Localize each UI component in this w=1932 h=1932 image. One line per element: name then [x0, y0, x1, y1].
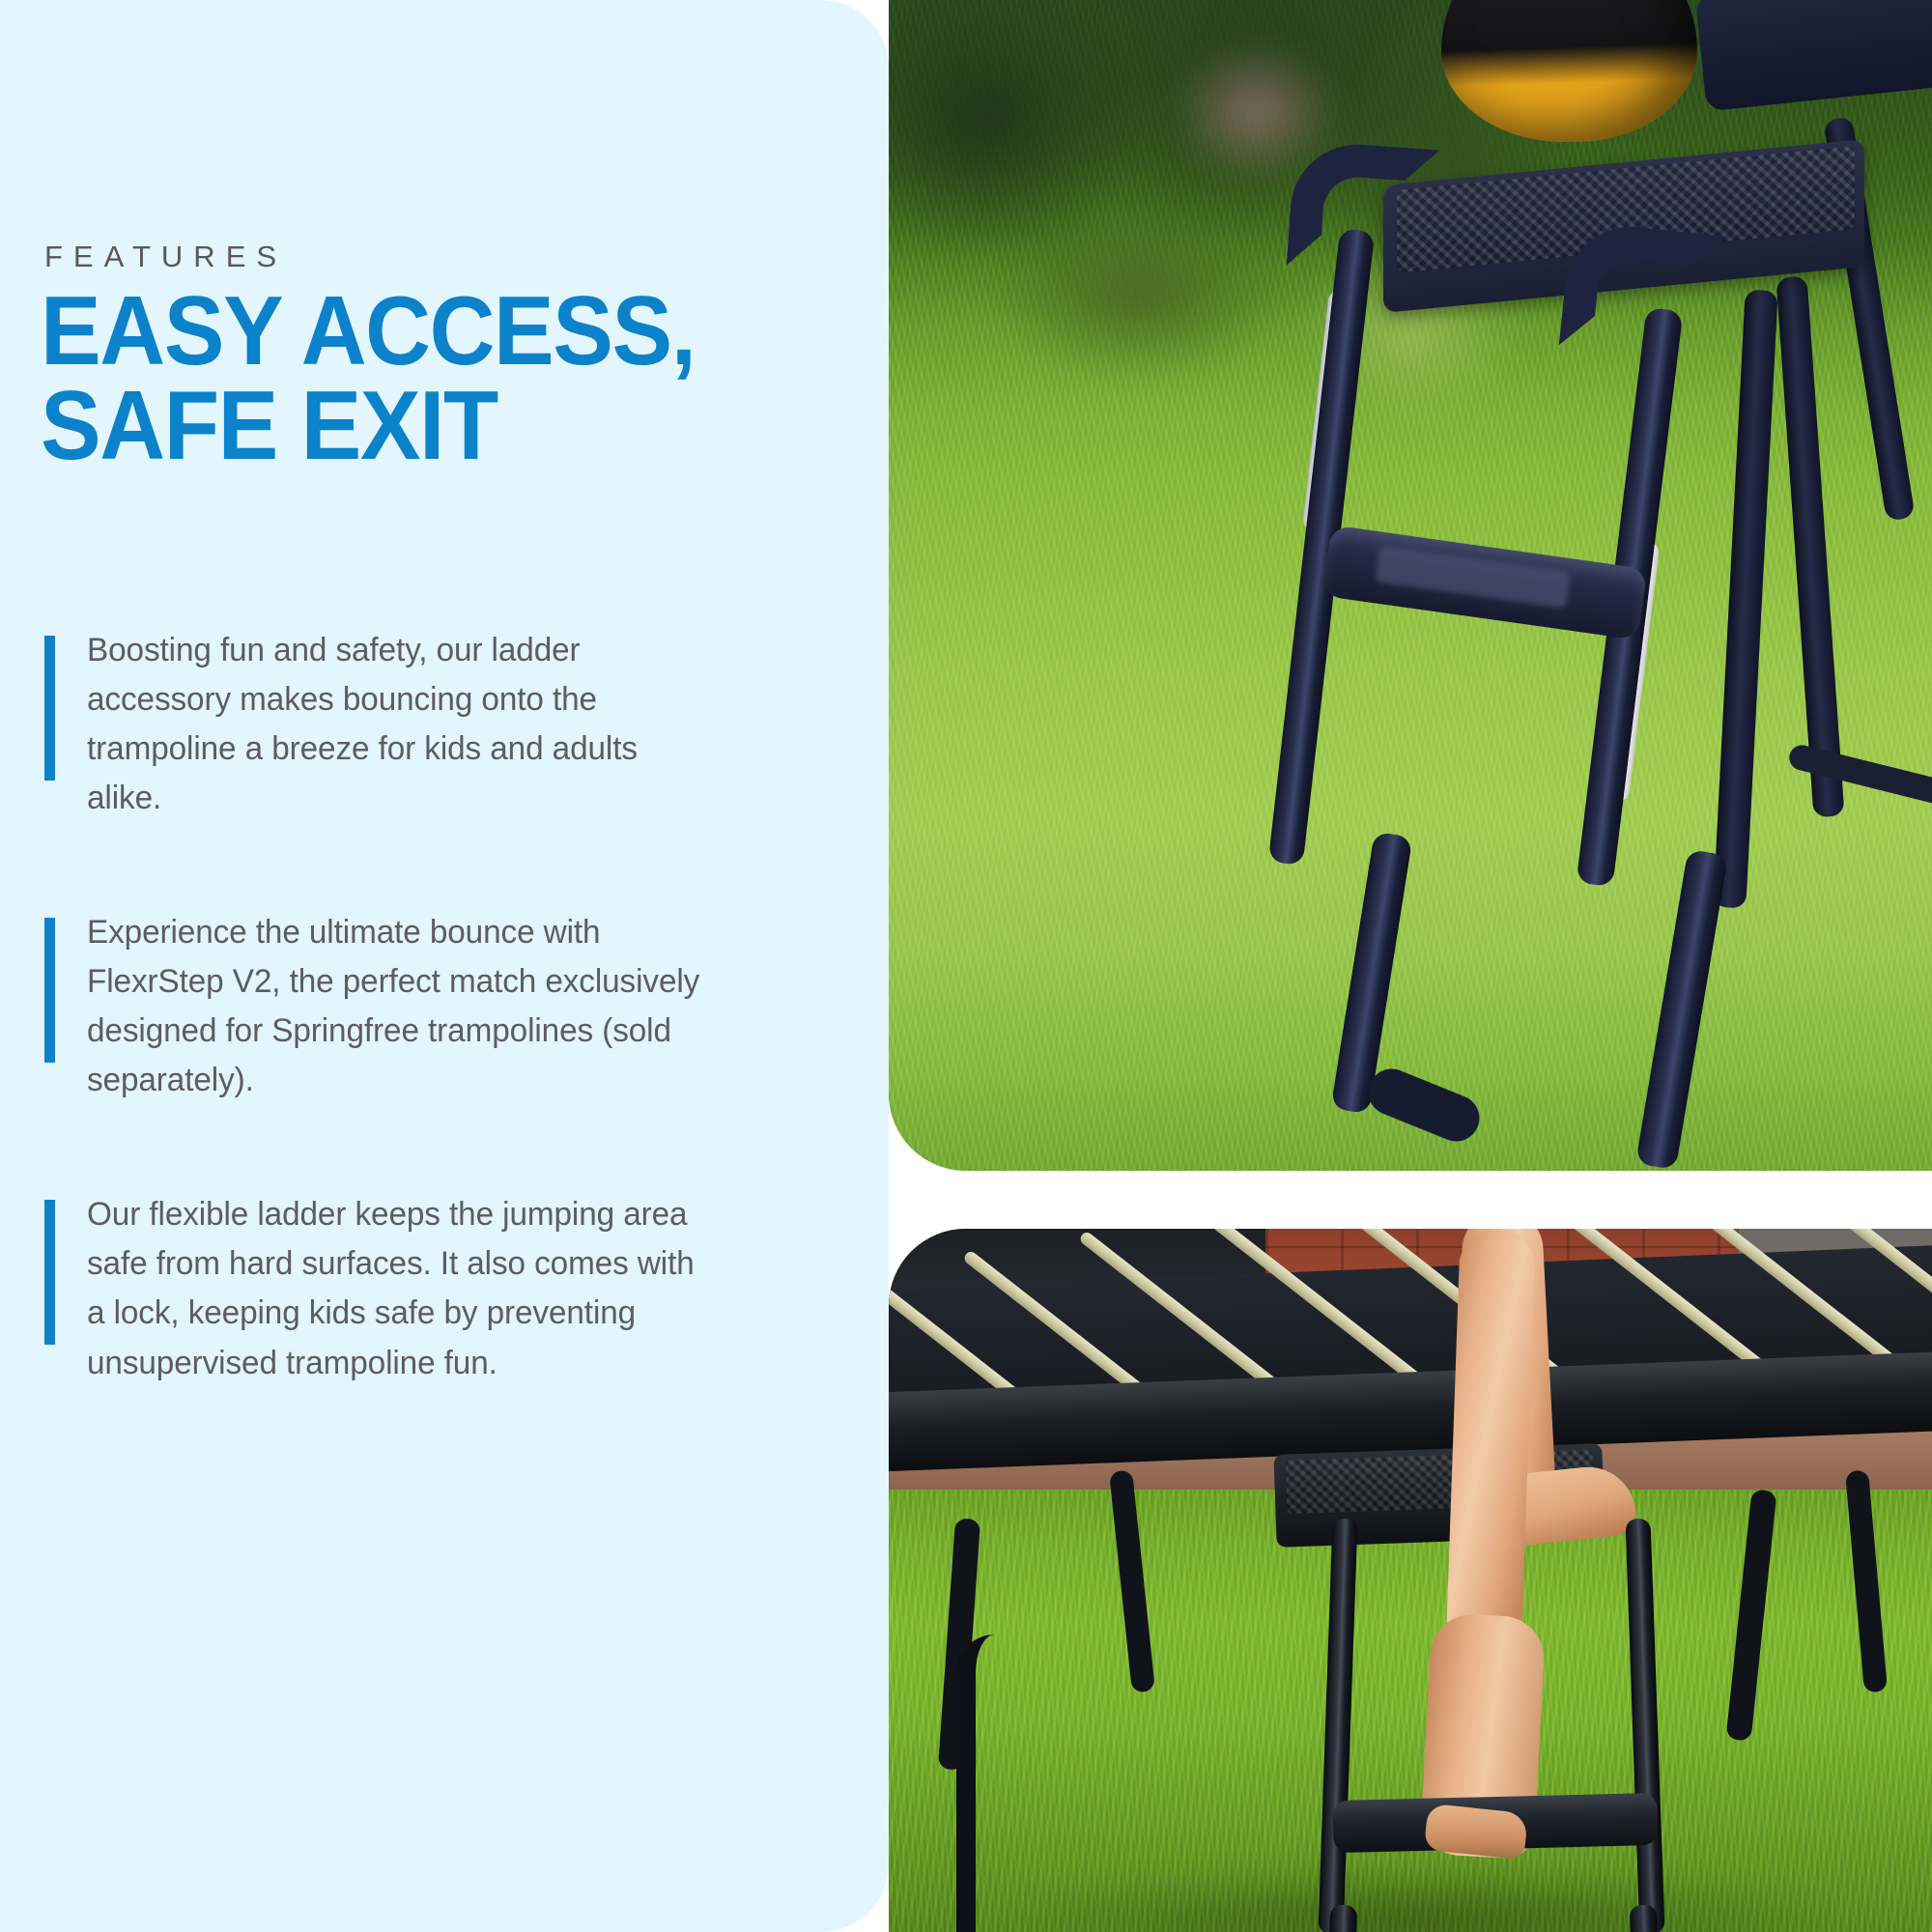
- feature-item: Experience the ultimate bounce with Flex…: [44, 908, 721, 1105]
- text-column: FEATURES EASY ACCESS, SAFE EXIT Boosting…: [44, 0, 721, 1932]
- feature-item: Our flexible ladder keeps the jumping ar…: [44, 1190, 721, 1387]
- feature-text: Experience the ultimate bounce with Flex…: [87, 908, 721, 1105]
- feature-text: Boosting fun and safety, our ladder acce…: [87, 626, 721, 823]
- page-title-line-2: SAFE EXIT: [41, 380, 705, 474]
- page-title-line-1: EASY ACCESS,: [41, 277, 696, 385]
- ground-shadow: [1005, 1866, 1835, 1932]
- marketing-feature-page: FEATURES EASY ACCESS, SAFE EXIT Boosting…: [0, 0, 1932, 1932]
- feature-item: Boosting fun and safety, our ladder acce…: [44, 626, 721, 823]
- child-stepping-on-ladder-photo: [889, 1229, 1932, 1932]
- ladder-on-lawn-photo: [889, 0, 1932, 1171]
- page-title: EASY ACCESS, SAFE EXIT: [41, 285, 705, 474]
- feature-list: Boosting fun and safety, our ladder acce…: [44, 626, 721, 1388]
- eyebrow-label: FEATURES: [44, 240, 287, 274]
- feature-accent-bar: [44, 636, 55, 781]
- feature-text: Our flexible ladder keeps the jumping ar…: [87, 1190, 721, 1387]
- child-leg-front: [1445, 1229, 1536, 1664]
- feature-accent-bar: [44, 918, 55, 1063]
- feature-accent-bar: [44, 1200, 55, 1345]
